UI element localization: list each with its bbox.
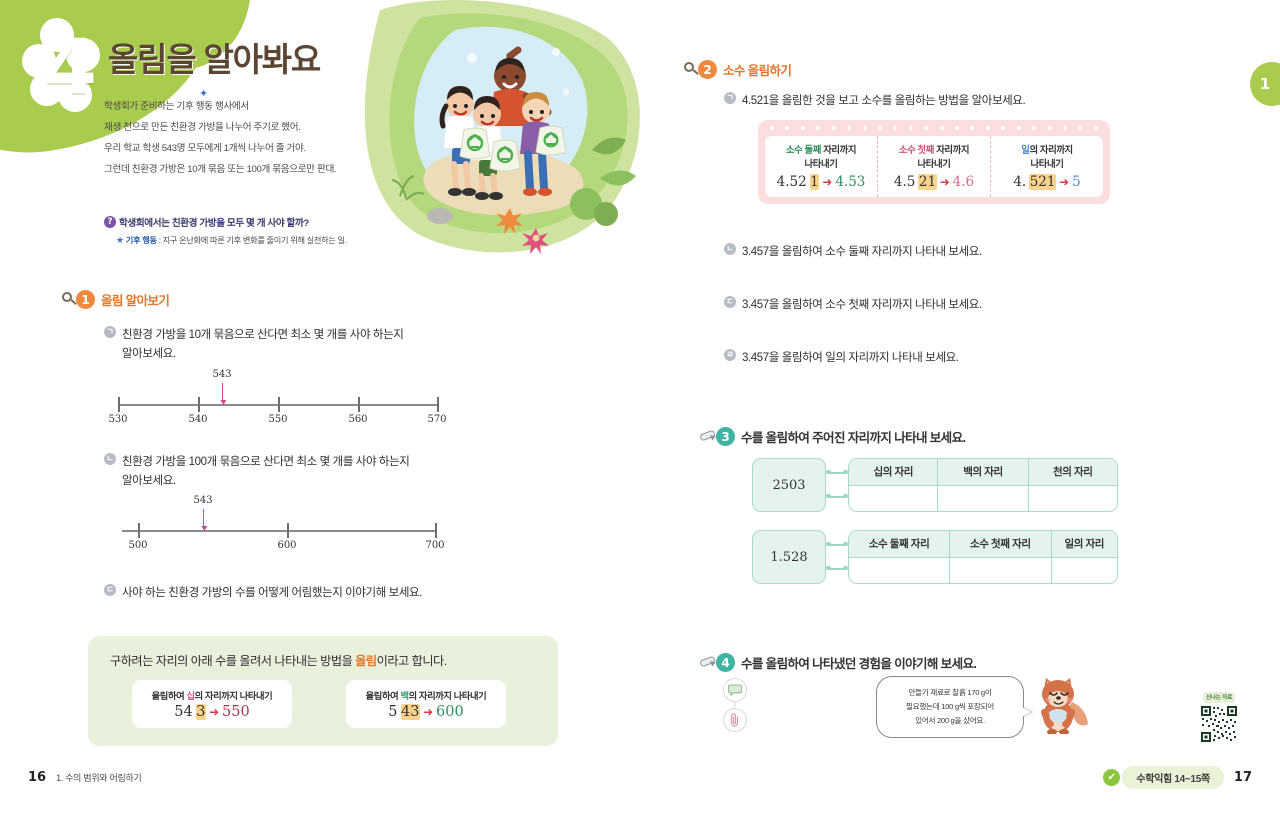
result-value: 5 (1072, 174, 1081, 190)
concept-card-hundreds-equation: 543 ➜ 600 (388, 704, 463, 720)
section-2-badge: 2 (698, 60, 717, 79)
answer-cell[interactable] (849, 485, 938, 511)
activity-icon-chain (723, 678, 749, 738)
concept-keyword: 올림 (355, 654, 376, 668)
highlighted-digit: 521 (1029, 174, 1056, 190)
concept-card-tens-caption: 올림하여 십의 자리까지 나타내기 (152, 688, 273, 702)
speech-line-1: 만들기 재료로 찰흙 170 g이 (908, 688, 991, 697)
concept-card-tens: 올림하여 십의 자리까지 나타내기 543 ➜ 550 (132, 680, 292, 728)
tick-label: 600 (277, 540, 296, 551)
concept-card-tens-equation: 543 ➜ 550 (174, 704, 249, 720)
table-header-cell: 소수 둘째 자리 (849, 531, 950, 557)
tick-label: 700 (425, 540, 444, 551)
number-line-hundreds: 500 600 700 543 (122, 508, 437, 558)
table-header-row: 십의 자리 백의 자리 천의 자리 (849, 459, 1117, 485)
answer-cell[interactable] (950, 557, 1051, 583)
value-prefix: 4.5 (894, 174, 915, 190)
right-page-number: 17 (1234, 770, 1252, 785)
section-1-badge: 1 (76, 290, 95, 309)
bullet-ga: ㄱ (104, 326, 116, 338)
value-prefix: 5 (388, 704, 397, 720)
decimal-col-hundredths-caption: 소수 둘째 자리까지 나타내기 (786, 143, 856, 171)
speech-bubble-tail (1022, 707, 1032, 717)
question-mark-icon: ? (104, 216, 116, 228)
practice-table-1-key: 2503 (752, 458, 826, 512)
chapter-number: 4 (44, 22, 95, 111)
section-2-title: 소수 올림하기 (723, 60, 791, 79)
table-header-cell: 천의 자리 (1028, 459, 1117, 485)
concept-card-hundreds: 올림하여 백의 자리까지 나타내기 543 ➜ 600 (346, 680, 506, 728)
table-header-cell: 소수 첫째 자리 (950, 531, 1051, 557)
table-header-cell: 십의 자리 (849, 459, 938, 485)
caption-key: 십 (186, 691, 194, 701)
decimal-col-ones-equation: 4.521 ➜ 5 (1013, 174, 1080, 190)
left-page-number: 16 (28, 770, 46, 785)
decimal-col-hundredths-equation: 4.521 ➜ 4.53 (777, 174, 866, 190)
section1-item-1-line2: 알아보세요. (122, 348, 176, 360)
value-prefix: 4.52 (777, 174, 807, 190)
caption-rest: 자리까지 (934, 144, 969, 155)
intro-line-4: 그런데 친환경 가방은 10개 묶음 또는 100개 묶음으로만 판대. (104, 159, 404, 180)
concept-sentence: 구하려는 자리의 아래 수를 올려서 나타내는 방법을 올림이라고 합니다. (110, 651, 447, 669)
caption-post: 의 자리까지 나타내기 (409, 691, 487, 701)
result-value: 600 (436, 704, 464, 720)
answer-cell[interactable] (938, 485, 1028, 511)
pointer-label-543: 543 (212, 369, 231, 380)
caption-post: 의 자리까지 나타내기 (195, 691, 273, 701)
arrow-right-icon: ➜ (209, 705, 219, 719)
intro-paragraph: ✦ 학생회가 준비하는 기후 행동 행사에서 재생 천으로 만든 친환경 가방을… (104, 96, 404, 180)
footnote-star-icon: ★ (116, 235, 124, 246)
intro-question-row: ? 학생회에서는 친환경 가방을 모두 몇 개 사야 할까? (104, 215, 309, 229)
pointer-arrow-icon (201, 526, 207, 531)
bullet-ra: ㄹ (724, 349, 736, 361)
arrow-right-icon: ➜ (940, 175, 950, 189)
practice-table-2-key: 1.528 (752, 530, 826, 584)
concept-card-hundreds-caption: 올림하여 백의 자리까지 나타내기 (366, 688, 487, 702)
left-page-footer: 16 1. 수의 범위와 어림하기 (28, 770, 141, 785)
tick-label: 530 (108, 414, 127, 425)
decimal-col-tenths-caption: 소수 첫째 자리까지 나타내기 (899, 143, 969, 171)
section1-item-3-text: 사야 하는 친환경 가방의 수를 어떻게 어림했는지 이야기해 보세요. (122, 584, 422, 603)
section2-item-na: ㄴ 3.457을 올림하여 소수 둘째 자리까지 나타내 보세요. (724, 243, 1174, 262)
tick-label: 500 (128, 540, 147, 551)
qr-label: 신나는 자료 (1203, 692, 1235, 703)
section-4-title: 수를 올림하여 나타냈던 경험을 이야기해 보세요. (741, 653, 976, 672)
table-header-cell: 일의 자리 (1051, 531, 1117, 557)
intro-line-3: 우리 학교 학생 543명 모두에게 1개씩 나누어 줄 거야. (104, 138, 404, 159)
decimal-rounding-box: 소수 둘째 자리까지 나타내기 4.521 ➜ 4.53 소수 첫째 자리까지 … (758, 120, 1110, 204)
table-answer-row (849, 557, 1117, 583)
section2-item-na-text: 3.457을 올림하여 소수 둘째 자리까지 나타내 보세요. (742, 243, 982, 262)
fox-character-illustration (1032, 672, 1090, 734)
result-value: 550 (222, 704, 250, 720)
pointer-arrow-icon (220, 400, 226, 405)
caption-line2: 나타내기 (918, 158, 951, 169)
magnifier-icon (62, 292, 77, 307)
student-speech-bubble: 만들기 재료로 찰흙 170 g이 필요했는데 100 g씩 포장되어 있어서 … (876, 676, 1024, 738)
section2-item-da: ㄷ 3.457을 올림하여 소수 첫째 자리까지 나타내 보세요. (724, 296, 1174, 315)
value-prefix: 54 (174, 704, 192, 720)
section-1-title: 올림 알아보기 (101, 290, 169, 309)
caption-rest: 자리까지 (821, 144, 856, 155)
bullet-ga: ㄱ (724, 92, 736, 104)
section-1-header: 1 올림 알아보기 (62, 290, 169, 309)
result-value: 4.53 (835, 174, 865, 190)
tick-label: 550 (268, 414, 287, 425)
blue-star-icon: ✦ (199, 87, 208, 100)
caption-key: 백 (400, 691, 408, 701)
section-3-title: 수를 올림하여 주어진 자리까지 나타내 보세요. (741, 427, 965, 446)
footnote-term: 기후 행동 (126, 234, 157, 246)
pointer-label-543: 543 (193, 495, 212, 506)
highlighted-digit: 43 (401, 704, 420, 720)
section1-item-1-line1: 친환경 가방을 10개 묶음으로 산다면 최소 몇 개를 사야 하는지 (122, 329, 403, 341)
qr-code-image[interactable] (1200, 705, 1238, 743)
caption-pre: 올림하여 (366, 691, 401, 701)
decimal-col-ones: 일의 자리까지 나타내기 4.521 ➜ 5 (990, 136, 1103, 197)
intro-footnote: ★ 기후 행동 : 지구 온난화에 따른 기후 변화를 줄이기 위해 실천하는 … (116, 234, 347, 246)
lesson-title: 올림을 알아봐요 (108, 33, 320, 81)
decimal-col-hundredths: 소수 둘째 자리까지 나타내기 4.521 ➜ 4.53 (765, 136, 877, 197)
qr-code-block[interactable]: 신나는 자료 (1196, 686, 1242, 743)
section-4-header: 4 수를 올림하여 나타냈던 경험을 이야기해 보세요. (700, 653, 976, 672)
section-3-header: 3 수를 올림하여 주어진 자리까지 나타내 보세요. (700, 427, 965, 446)
caption-rest: 의 자리까지 (1029, 144, 1072, 155)
caption-line2: 나타내기 (1031, 158, 1064, 169)
table-header-row: 소수 둘째 자리 소수 첫째 자리 일의 자리 (849, 531, 1117, 557)
highlighted-digit: 21 (918, 174, 936, 190)
tick-label: 560 (348, 414, 367, 425)
dotted-decoration (770, 126, 1098, 130)
right-page-footer: ✔ 수학익힘 14~15쪽 17 (1103, 766, 1252, 789)
section2-item-ra-text: 3.457을 올림하여 일의 자리까지 나타내 보세요. (742, 349, 959, 368)
section1-item-3: ㄷ 사야 하는 친환경 가방의 수를 어떻게 어림했는지 이야기해 보세요. (104, 584, 544, 603)
answer-cell[interactable] (1028, 485, 1117, 511)
concept-sentence-after: 이라고 합니다. (377, 654, 447, 668)
check-icon: ✔ (1103, 769, 1120, 786)
concept-sentence-before: 구하려는 자리의 아래 수를 올려서 나타내는 방법을 (110, 654, 355, 668)
highlighted-digit: 3 (196, 704, 206, 720)
tick-label: 540 (188, 414, 207, 425)
arrow-right-icon: ➜ (423, 705, 433, 719)
section2-item-ra: ㄹ 3.457을 올림하여 일의 자리까지 나타내 보세요. (724, 349, 1174, 368)
practice-table-2: 1.528 소수 둘째 자리 소수 첫째 자리 일의 자리 (752, 530, 1118, 584)
left-unit-label: 1. 수의 범위와 어림하기 (56, 771, 141, 784)
textbook-spread: 4 올림을 알아봐요 (0, 0, 1280, 814)
pencil-icon (700, 655, 717, 670)
pencil-icon (700, 429, 717, 444)
practice-table-1: 2503 십의 자리 백의 자리 천의 자리 (752, 458, 1118, 512)
intro-question-text: 학생회에서는 친환경 가방을 모두 몇 개 사야 할까? (119, 215, 309, 229)
arrow-right-icon: ➜ (1059, 175, 1069, 189)
unit-edge-tab[interactable]: 1 (1250, 62, 1280, 106)
section2-lead-text: 4.521을 올림한 것을 보고 소수를 올림하는 방법을 알아보세요. (742, 92, 1025, 111)
table-connectors (826, 458, 848, 512)
speech-line-3: 있어서 200 g을 샀어요. (915, 716, 985, 725)
highlighted-digit: 1 (810, 174, 820, 190)
bullet-na: ㄴ (724, 243, 736, 255)
caption-key: 소수 둘째 (786, 144, 821, 155)
bullet-da: ㄷ (104, 584, 116, 596)
section-4-badge: 4 (716, 653, 735, 672)
caption-pre: 올림하여 (152, 691, 187, 701)
caption-line2: 나타내기 (805, 158, 838, 169)
intro-line-1: 학생회가 준비하는 기후 행동 행사에서 (104, 96, 404, 117)
speech-line-2: 필요했는데 100 g씩 포장되어 (906, 702, 994, 711)
table-connectors (826, 530, 848, 584)
section1-item-1: ㄱ 친환경 가방을 10개 묶음으로 산다면 최소 몇 개를 사야 하는지 알아… (104, 326, 504, 364)
workbook-reference-pill: 수학익힘 14~15쪽 (1122, 766, 1224, 789)
section2-lead: ㄱ 4.521을 올림한 것을 보고 소수를 올림하는 방법을 알아보세요. (724, 92, 1174, 111)
bullet-na: ㄴ (104, 453, 116, 465)
paperclip-icon[interactable] (723, 708, 747, 732)
section1-item-2-line1: 친환경 가방을 100개 묶음으로 산다면 최소 몇 개를 사야 하는지 (122, 456, 409, 468)
arrow-right-icon: ➜ (822, 175, 832, 189)
caption-key: 소수 첫째 (899, 144, 934, 155)
answer-cell[interactable] (1051, 557, 1117, 583)
decimal-col-tenths: 소수 첫째 자리까지 나타내기 4.521 ➜ 4.6 (877, 136, 990, 197)
table-answer-row (849, 485, 1117, 511)
bullet-da: ㄷ (724, 296, 736, 308)
tick-label: 570 (427, 414, 446, 425)
speech-bubble-icon[interactable] (723, 678, 747, 702)
table-header-cell: 백의 자리 (938, 459, 1028, 485)
value-prefix: 4. (1013, 174, 1026, 190)
concept-definition-box: 구하려는 자리의 아래 수를 올려서 나타내는 방법을 올림이라고 합니다. 올… (88, 636, 558, 746)
section-2-header: 2 소수 올림하기 (684, 60, 791, 79)
section-3-badge: 3 (716, 427, 735, 446)
result-value: 4.6 (953, 174, 974, 190)
section1-item-2-line2: 알아보세요. (122, 475, 176, 487)
footnote-text: : 지구 온난화에 따른 기후 변화를 줄이기 위해 실천하는 일. (159, 234, 347, 246)
section2-item-da-text: 3.457을 올림하여 소수 첫째 자리까지 나타내 보세요. (742, 296, 982, 315)
number-line-tens: 530 540 550 560 570 543 (118, 382, 438, 432)
decimal-col-tenths-equation: 4.521 ➜ 4.6 (894, 174, 974, 190)
intro-line-2: 재생 천으로 만든 친환경 가방을 나누어 주기로 했어. (104, 117, 404, 138)
answer-cell[interactable] (849, 557, 950, 583)
decimal-col-ones-caption: 일의 자리까지 나타내기 (1021, 143, 1073, 171)
magnifier-icon (684, 62, 699, 77)
section1-item-2: ㄴ 친환경 가방을 100개 묶음으로 산다면 최소 몇 개를 사야 하는지 알… (104, 453, 504, 491)
